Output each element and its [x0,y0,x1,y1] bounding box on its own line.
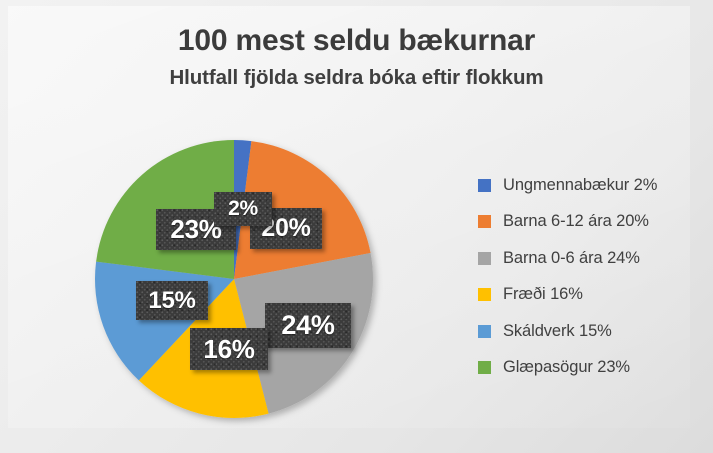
data-label-skaldverk: 15% [136,281,208,320]
legend-item[interactable]: Skáldverk 15% [478,313,693,350]
legend-item[interactable]: Barna 6-12 ára 20% [478,204,693,241]
data-label-ungmennabaekur: 2% [214,192,272,226]
chart-subtitle: Hlutfall fjölda seldra bóka eftir flokku… [0,66,713,90]
data-label-barna-0-6-ara: 24% [265,303,351,348]
pie-slices-svg [95,140,373,418]
chart-legend: Ungmennabækur 2%Barna 6-12 ára 20%Barna … [478,167,693,386]
legend-swatch-icon [478,288,491,301]
legend-item-label: Glæpasögur 23% [503,358,630,377]
legend-item[interactable]: Barna 0-6 ára 24% [478,240,693,277]
legend-swatch-icon [478,325,491,338]
legend-item-label: Fræði 16% [503,285,583,304]
pie-chart [95,140,373,418]
chart-title: 100 mest seldu bækurnar [0,24,713,58]
legend-swatch-icon [478,179,491,192]
legend-swatch-icon [478,361,491,374]
legend-item[interactable]: Fræði 16% [478,277,693,314]
legend-item[interactable]: Ungmennabækur 2% [478,167,693,204]
chart-canvas: 100 mest seldu bækurnar Hlutfall fjölda … [0,0,713,453]
legend-item-label: Ungmennabækur 2% [503,176,657,195]
legend-swatch-icon [478,252,491,265]
title-block: 100 mest seldu bækurnar Hlutfall fjölda … [0,24,713,90]
legend-item-label: Skáldverk 15% [503,322,612,341]
data-label-fraedi: 16% [190,328,268,370]
legend-item-label: Barna 6-12 ára 20% [503,212,649,231]
legend-item[interactable]: Glæpasögur 23% [478,350,693,387]
legend-swatch-icon [478,215,491,228]
legend-item-label: Barna 0-6 ára 24% [503,249,640,268]
